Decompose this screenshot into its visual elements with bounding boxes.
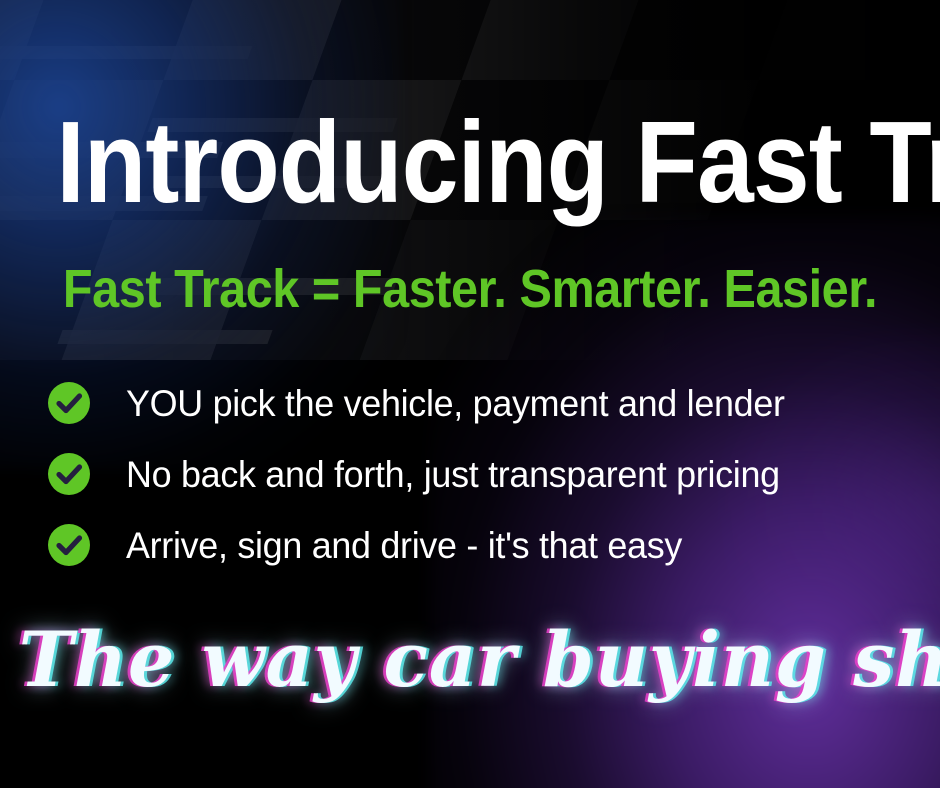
check-circle-icon bbox=[48, 524, 90, 566]
promo-poster: Introducing Fast Track Fast Track = Fast… bbox=[0, 0, 940, 788]
benefits-list: YOU pick the vehicle, payment and lender… bbox=[48, 378, 908, 591]
list-item-label: YOU pick the vehicle, payment and lender bbox=[126, 385, 785, 422]
list-item: No back and forth, just transparent pric… bbox=[48, 449, 908, 499]
check-circle-icon bbox=[48, 382, 90, 424]
list-item-label: Arrive, sign and drive - it's that easy bbox=[126, 527, 682, 564]
list-item: Arrive, sign and drive - it's that easy bbox=[48, 520, 908, 570]
script-tagline: The way car buying should be. bbox=[19, 612, 921, 707]
list-item: YOU pick the vehicle, payment and lender bbox=[48, 378, 908, 428]
list-item-label: No back and forth, just transparent pric… bbox=[126, 456, 780, 493]
check-circle-icon bbox=[48, 453, 90, 495]
subtitle: Fast Track = Faster. Smarter. Easier. bbox=[47, 262, 893, 316]
page-title: Introducing Fast Track bbox=[56, 104, 883, 220]
